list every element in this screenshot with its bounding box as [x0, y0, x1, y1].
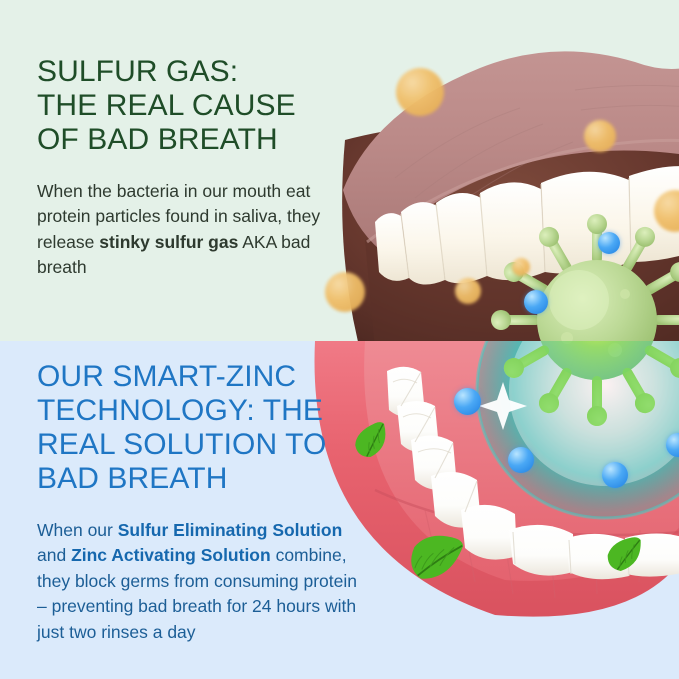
bottom-body-text: When our Sulfur Eliminating Solution and…: [37, 518, 357, 646]
bottom-body-bold-2: Zinc Activating Solution: [71, 545, 271, 565]
top-body-text: When the bacteria in our mouth eat prote…: [37, 179, 357, 281]
bottom-copy-block: OUR SMART-ZINC TECHNOLOGY: THE REAL SOLU…: [37, 360, 357, 645]
bottom-body-part-2: and: [37, 545, 71, 565]
zinc-particle: [454, 388, 481, 415]
bottom-heading-line-2: TECHNOLOGY: THE: [37, 394, 323, 427]
bottom-heading-line-4: BAD BREATH: [37, 462, 227, 495]
zinc-particle: [602, 462, 628, 488]
bottom-body-part-1: When our: [37, 520, 118, 540]
top-copy-block: SULFUR GAS: THE REAL CAUSE OF BAD BREATH…: [37, 55, 357, 281]
sulfur-particle: [396, 68, 444, 116]
bottom-heading: OUR SMART-ZINC TECHNOLOGY: THE REAL SOLU…: [37, 360, 357, 496]
bottom-heading-line-1: OUR SMART-ZINC: [37, 360, 296, 393]
sulfur-particle: [455, 278, 481, 304]
sulfur-particle: [512, 258, 530, 276]
product-infographic: SULFUR GAS: THE REAL CAUSE OF BAD BREATH…: [0, 0, 679, 679]
sulfur-particle: [584, 120, 616, 152]
top-heading-line-3: OF BAD BREATH: [37, 123, 278, 156]
top-body-bold-1: stinky sulfur gas: [99, 232, 238, 252]
zinc-particle: [524, 290, 548, 314]
bottom-heading-line-3: REAL SOLUTION TO: [37, 428, 326, 461]
zinc-particle: [508, 447, 534, 473]
top-heading-line-1: SULFUR GAS:: [37, 55, 238, 88]
zinc-particle: [598, 232, 620, 254]
top-heading: SULFUR GAS: THE REAL CAUSE OF BAD BREATH: [37, 55, 357, 157]
top-heading-line-2: THE REAL CAUSE: [37, 89, 296, 122]
mouth-illustration: [305, 0, 679, 679]
bottom-body-bold-1: Sulfur Eliminating Solution: [118, 520, 343, 540]
mint-leaf-icon: [601, 534, 649, 577]
